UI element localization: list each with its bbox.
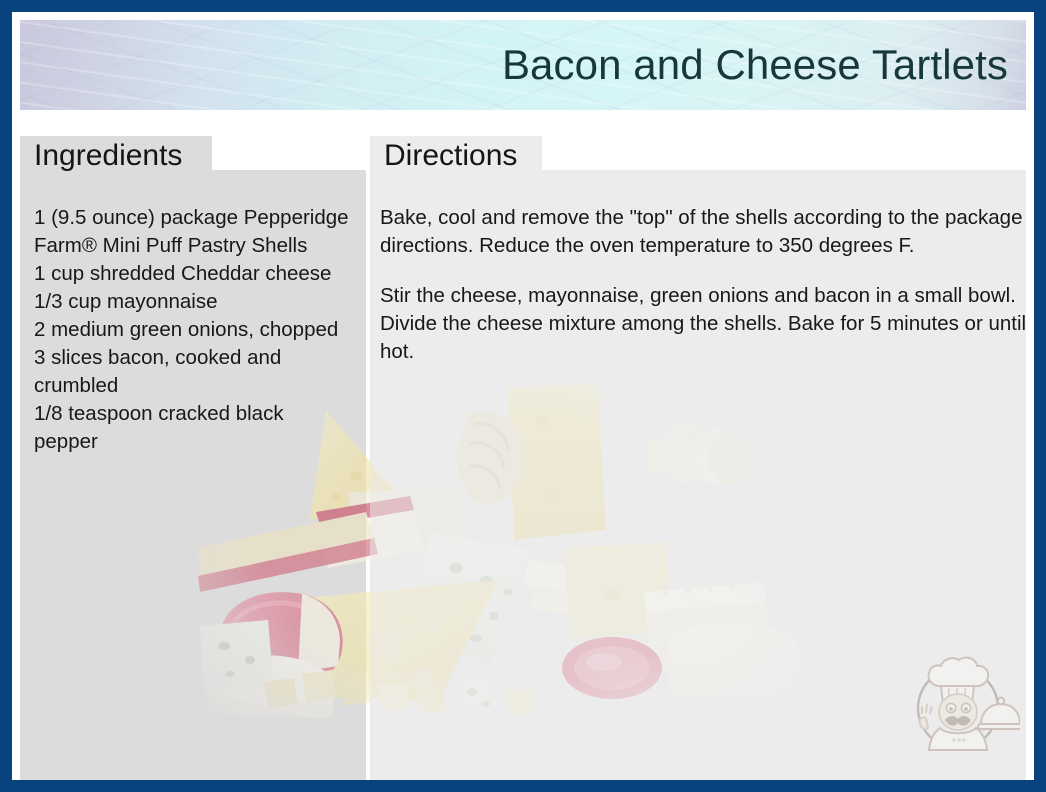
ingredient-line: 2 medium green onions, chopped: [34, 316, 364, 344]
direction-paragraph: Stir the cheese, mayonnaise, green onion…: [380, 282, 1030, 366]
ingredient-line: 1/3 cup mayonnaise: [34, 288, 364, 316]
ingredient-line: 3 slices bacon, cooked and: [34, 344, 364, 372]
ingredient-line: 1 (9.5 ounce) package Pepperidge: [34, 204, 364, 232]
recipe-slide: Bacon and Cheese Tartlets: [0, 0, 1046, 792]
ingredients-heading: Ingredients: [20, 136, 212, 176]
directions-heading: Directions: [370, 136, 542, 176]
page-title: Bacon and Cheese Tartlets: [502, 43, 1008, 87]
slide-inner: Bacon and Cheese Tartlets: [12, 12, 1034, 780]
direction-paragraph: Bake, cool and remove the "top" of the s…: [380, 204, 1030, 260]
ingredients-list: 1 (9.5 ounce) package Pepperidge Farm® M…: [34, 204, 364, 456]
ingredient-line: 1/8 teaspoon cracked black: [34, 400, 364, 428]
directions-body: Bake, cool and remove the "top" of the s…: [380, 204, 1030, 366]
title-banner: Bacon and Cheese Tartlets: [20, 20, 1026, 110]
chef-with-cloche-logo: [896, 642, 1020, 766]
ingredient-line: 1 cup shredded Cheddar cheese: [34, 260, 364, 288]
ingredient-line: pepper: [34, 428, 364, 456]
ingredient-line: Farm® Mini Puff Pastry Shells: [34, 232, 364, 260]
ingredient-line: crumbled: [34, 372, 364, 400]
